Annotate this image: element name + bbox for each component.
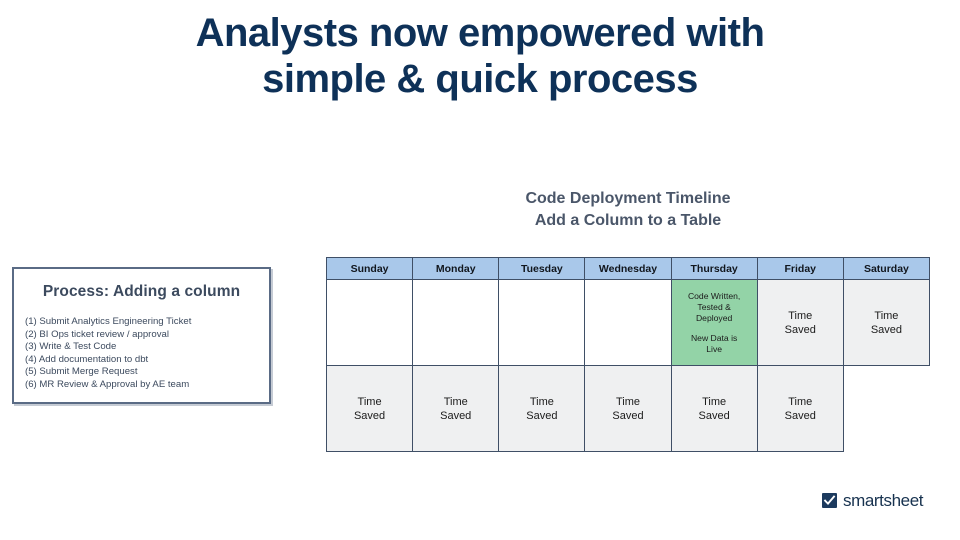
time-saved-line-2: Saved	[329, 409, 410, 423]
code-deployment-timeline-table: Sunday Monday Tuesday Wednesday Thursday…	[326, 257, 930, 452]
process-callout-heading: Process: Adding a column	[14, 283, 269, 301]
time-saved-line-1: Time	[674, 395, 755, 409]
time-saved-line-1: Time	[501, 395, 582, 409]
time-saved-line-2: Saved	[674, 409, 755, 423]
time-saved-line-2: Saved	[760, 323, 841, 337]
cell-row1-friday-time-saved: Time Saved	[757, 280, 843, 366]
time-saved-line-1: Time	[329, 395, 410, 409]
time-saved-line-1: Time	[846, 309, 927, 323]
deployed-text-spacer	[674, 324, 755, 333]
cell-row1-thursday-deployed: Code Written, Tested & Deployed New Data…	[671, 280, 757, 366]
cell-row1-sunday	[327, 280, 413, 366]
timeline-caption-line-1: Code Deployment Timeline	[326, 188, 930, 210]
cell-row1-monday	[413, 280, 499, 366]
cell-row2-tuesday-time-saved: Time Saved	[499, 366, 585, 452]
process-step-5: (5) Submit Merge Request	[25, 366, 269, 379]
time-saved-line-1: Time	[587, 395, 668, 409]
page-title-line-2: simple & quick process	[100, 56, 860, 102]
cell-row1-tuesday	[499, 280, 585, 366]
time-saved-line-1: Time	[760, 309, 841, 323]
cell-row2-sunday-time-saved: Time Saved	[327, 366, 413, 452]
cell-row2-monday-time-saved: Time Saved	[413, 366, 499, 452]
process-step-list: (1) Submit Analytics Engineering Ticket …	[25, 316, 269, 392]
time-saved-line-2: Saved	[846, 323, 927, 337]
cell-row2-friday-time-saved: Time Saved	[757, 366, 843, 452]
table-row: Time Saved Time Saved Time Saved Time Sa…	[327, 366, 930, 452]
deployed-text-line-1: Code Written,	[674, 291, 755, 302]
time-saved-line-1: Time	[760, 395, 841, 409]
process-callout-box: Process: Adding a column (1) Submit Anal…	[12, 267, 271, 404]
column-header-wednesday: Wednesday	[585, 258, 671, 280]
time-saved-line-2: Saved	[587, 409, 668, 423]
time-saved-line-2: Saved	[501, 409, 582, 423]
time-saved-line-1: Time	[415, 395, 496, 409]
deployed-text-line-2: Tested &	[674, 302, 755, 313]
cell-row2-wednesday-time-saved: Time Saved	[585, 366, 671, 452]
timeline-caption: Code Deployment Timeline Add a Column to…	[326, 188, 930, 232]
cell-row2-saturday-blank	[843, 366, 929, 452]
time-saved-line-2: Saved	[760, 409, 841, 423]
timeline-caption-line-2: Add a Column to a Table	[326, 210, 930, 232]
process-step-6: (6) MR Review & Approval by AE team	[25, 379, 269, 392]
checkbox-check-icon	[822, 493, 837, 508]
deployed-text-line-4: New Data is	[674, 333, 755, 344]
column-header-saturday: Saturday	[843, 258, 929, 280]
column-header-thursday: Thursday	[671, 258, 757, 280]
deployed-text-line-3: Deployed	[674, 313, 755, 324]
table-header-row: Sunday Monday Tuesday Wednesday Thursday…	[327, 258, 930, 280]
process-step-2: (2) BI Ops ticket review / approval	[25, 329, 269, 342]
process-step-4: (4) Add documentation to dbt	[25, 354, 269, 367]
smartsheet-logo: smartsheet	[822, 492, 923, 509]
cell-row1-saturday-time-saved: Time Saved	[843, 280, 929, 366]
time-saved-line-2: Saved	[415, 409, 496, 423]
process-step-3: (3) Write & Test Code	[25, 341, 269, 354]
cell-row1-wednesday	[585, 280, 671, 366]
cell-row2-thursday-time-saved: Time Saved	[671, 366, 757, 452]
brand-wordmark: smartsheet	[843, 492, 923, 509]
column-header-tuesday: Tuesday	[499, 258, 585, 280]
column-header-friday: Friday	[757, 258, 843, 280]
deployed-text-line-5: Live	[674, 344, 755, 355]
column-header-sunday: Sunday	[327, 258, 413, 280]
table-row: Code Written, Tested & Deployed New Data…	[327, 280, 930, 366]
page-title: Analysts now empowered with simple & qui…	[100, 10, 860, 102]
page-title-line-1: Analysts now empowered with	[196, 11, 765, 55]
process-step-1: (1) Submit Analytics Engineering Ticket	[25, 316, 269, 329]
column-header-monday: Monday	[413, 258, 499, 280]
